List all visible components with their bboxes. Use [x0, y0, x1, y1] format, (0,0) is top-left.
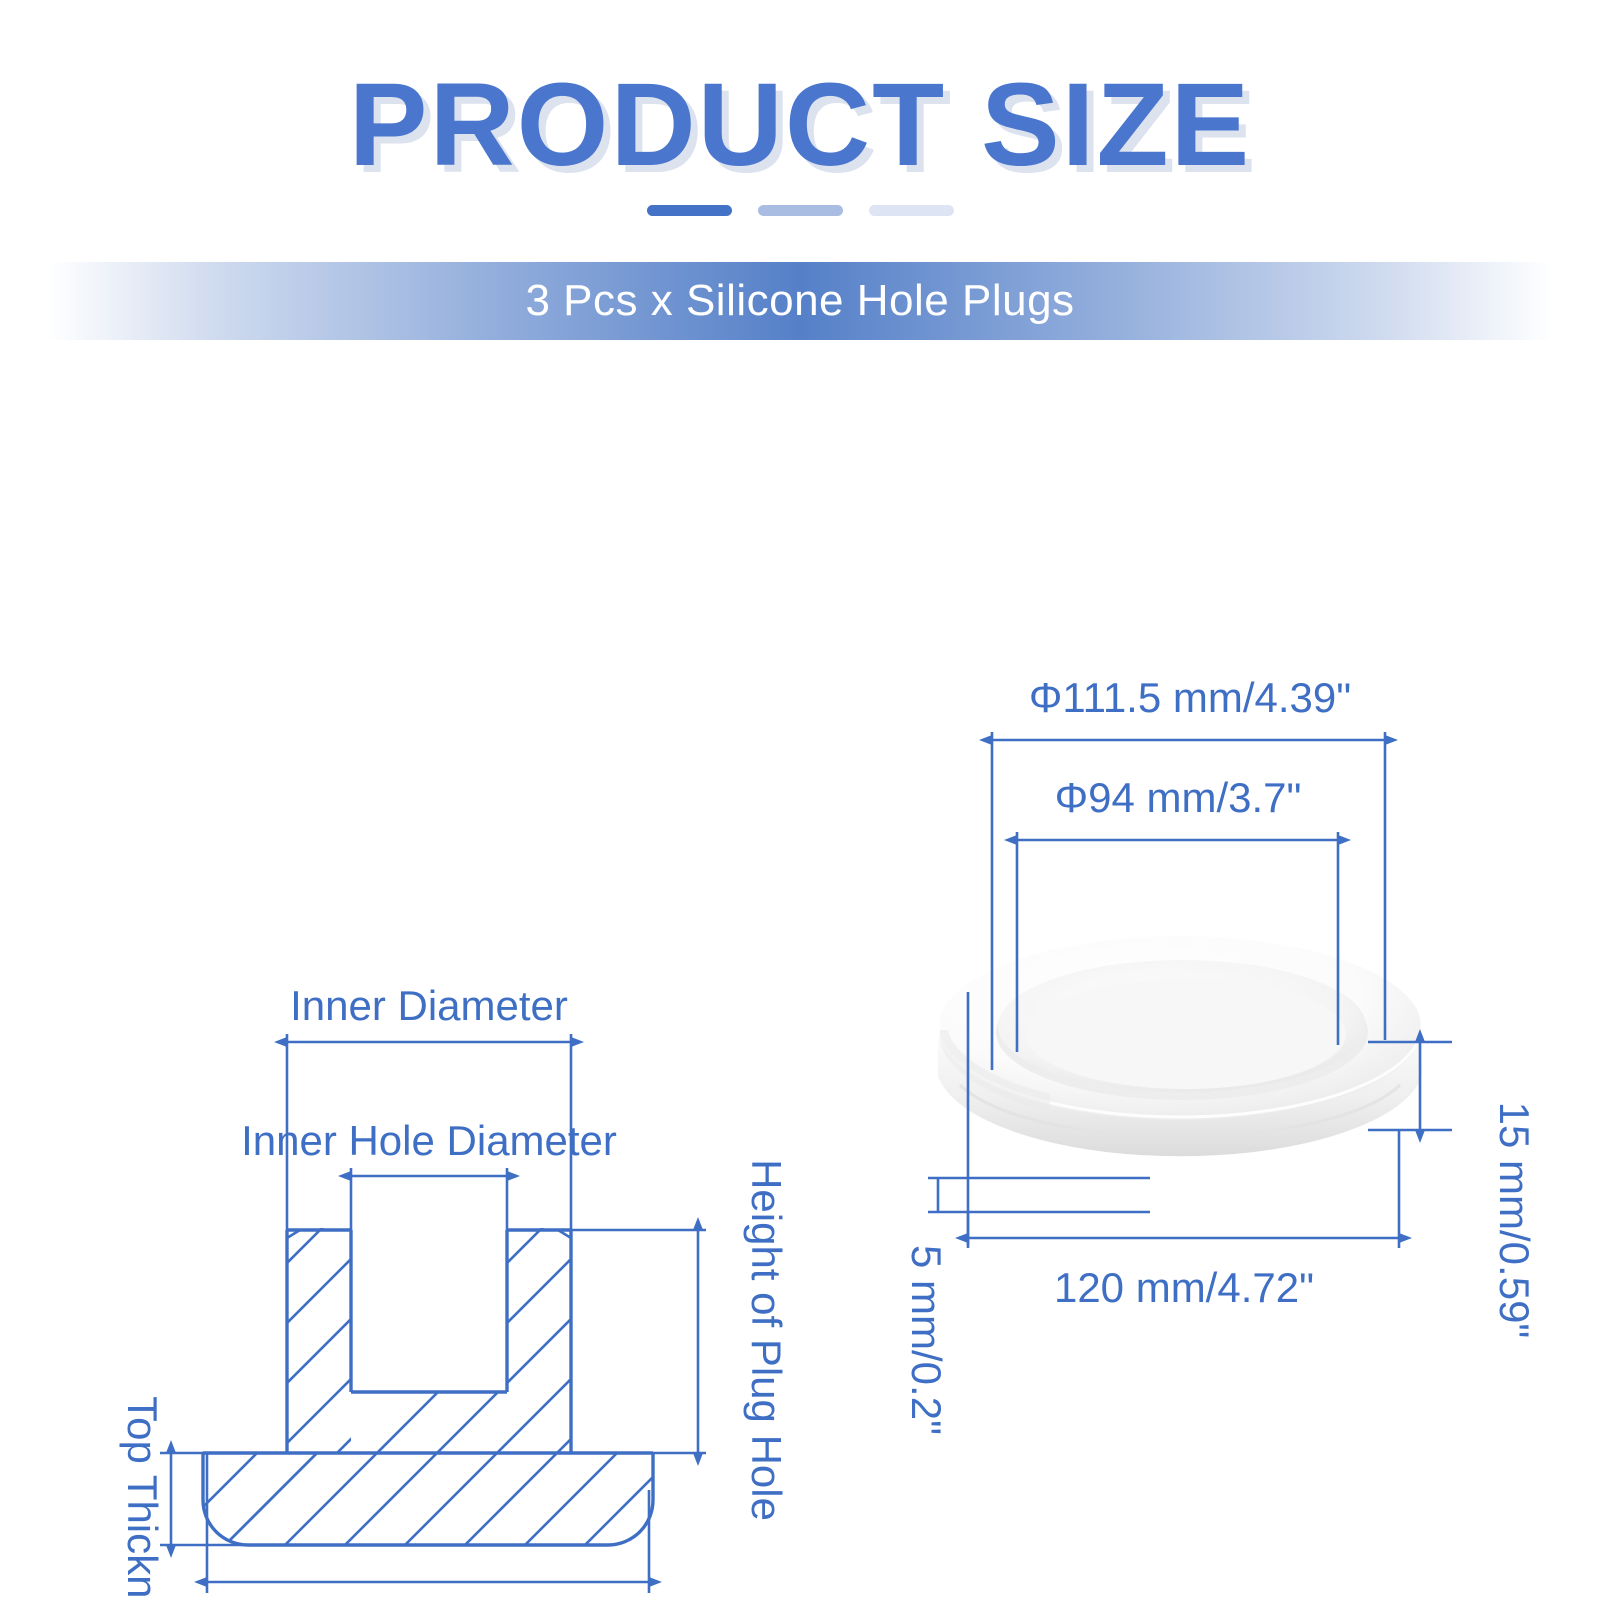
subtitle-banner: 3 Pcs x Silicone Hole Plugs: [0, 262, 1600, 340]
label-inner-hole-diameter: Inner Hole Diameter: [241, 1117, 617, 1164]
label-top-thickness: Top Thickness: [119, 1396, 166, 1600]
header: PRODUCT SIZE 3 Pcs x Silicone Hole Plugs: [0, 0, 1600, 340]
diagram-stage: Inner Diameter Inner Hole Diameter Heigh…: [0, 340, 1600, 1600]
dash-light-icon: [869, 205, 954, 216]
page-title: PRODUCT SIZE: [0, 62, 1600, 189]
label-inner-recess-diameter: Φ94 mm/3.7": [1055, 774, 1302, 821]
dimension-linework: Inner Diameter Inner Hole Diameter Heigh…: [0, 340, 1600, 1600]
subtitle-text: 3 Pcs x Silicone Hole Plugs: [525, 276, 1074, 326]
label-rim-height: 15 mm/0.59": [1491, 1102, 1538, 1339]
dash-mid-icon: [758, 205, 843, 216]
label-height-of-plug-hole: Height of Plug Hole: [743, 1159, 790, 1521]
label-lip-thickness: 5 mm/0.2": [903, 1245, 950, 1435]
divider-dashes: [0, 205, 1600, 216]
label-outer-rim-diameter: Φ111.5 mm/4.39": [1029, 674, 1351, 721]
dash-active-icon: [647, 205, 732, 216]
label-overall-diameter: 120 mm/4.72": [1054, 1264, 1314, 1311]
label-inner-diameter: Inner Diameter: [290, 982, 568, 1029]
